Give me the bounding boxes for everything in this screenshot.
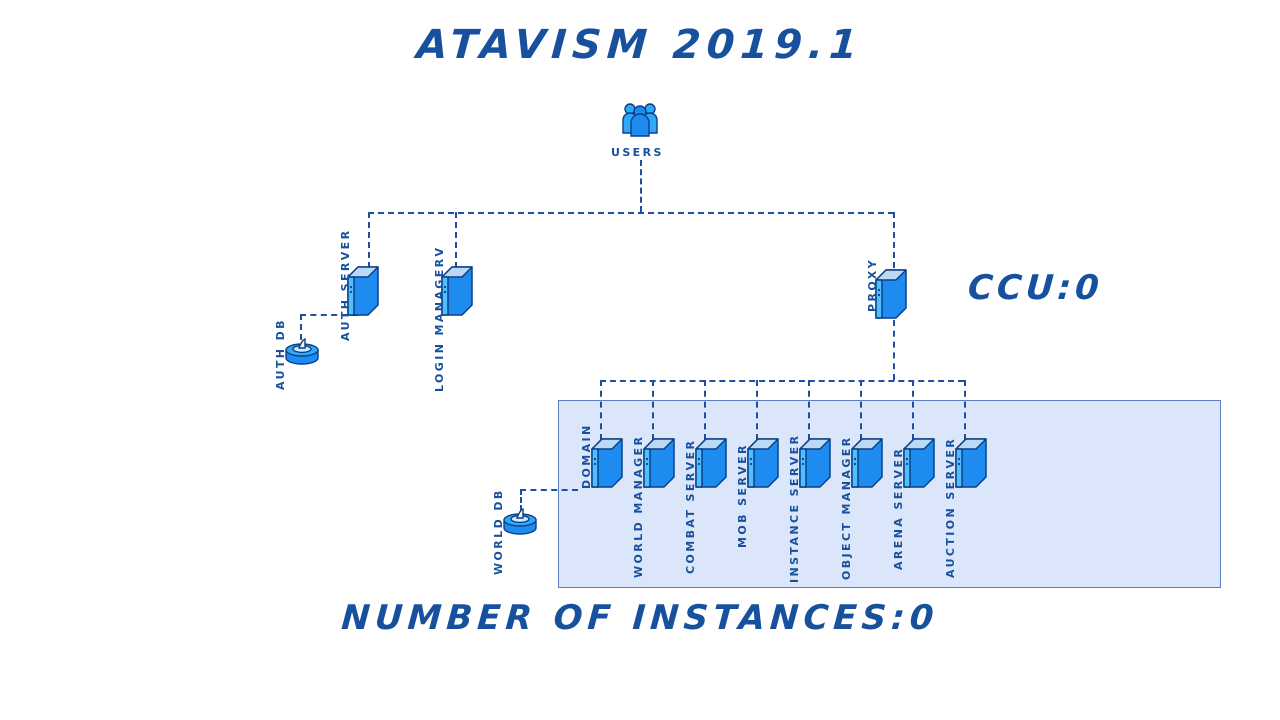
world-manager-label: WORLD MANAGER bbox=[632, 435, 645, 578]
auction-server-label: AUCTION SERVER bbox=[944, 437, 957, 578]
users-label: USERS bbox=[611, 146, 664, 159]
database-icon bbox=[283, 336, 321, 368]
connector-login-manager-drop bbox=[455, 212, 457, 268]
server-icon bbox=[798, 437, 832, 489]
connector-region-bus bbox=[600, 380, 964, 382]
instance-server-label: INSTANCE SERVER bbox=[788, 434, 801, 583]
server-icon bbox=[746, 437, 780, 489]
object-manager-label: OBJECT MANAGER bbox=[840, 435, 853, 580]
arena-server-label: ARENA SERVER bbox=[892, 447, 905, 570]
login-manager-label: LOGIN MANAGERV bbox=[433, 246, 446, 392]
instance-region-box bbox=[558, 400, 1221, 588]
domain-label: DOMAIN bbox=[580, 423, 593, 489]
ccu-counter: CCU:0 bbox=[967, 268, 1105, 308]
connector-region-drop-4 bbox=[756, 380, 758, 440]
connector-region-drop-1 bbox=[600, 380, 602, 440]
auth-server-label: AUTH SERVER bbox=[339, 229, 352, 341]
connector-top-bus bbox=[368, 212, 894, 214]
architecture-diagram: ATAVISM 2019.1 CCU:0 NUMBER OF INSTANCES… bbox=[0, 0, 1280, 720]
instance-counter: NUMBER OF INSTANCES:0 bbox=[0, 598, 1280, 638]
connector-worlddb-h bbox=[520, 489, 578, 491]
server-icon bbox=[874, 268, 908, 320]
page-title: ATAVISM 2019.1 bbox=[0, 22, 1280, 68]
connector-region-drop-2 bbox=[652, 380, 654, 440]
world-db-label: WORLD DB bbox=[492, 488, 505, 575]
connector-users-drop bbox=[640, 160, 642, 212]
database-icon bbox=[501, 506, 539, 538]
server-icon bbox=[642, 437, 676, 489]
server-icon bbox=[954, 437, 988, 489]
server-icon bbox=[590, 437, 624, 489]
server-icon bbox=[902, 437, 936, 489]
combat-server-label: COMBAT SERVER bbox=[684, 439, 697, 574]
connector-auth-server-drop bbox=[368, 212, 370, 268]
auth-db-label: AUTH DB bbox=[274, 318, 287, 390]
connector-region-drop-5 bbox=[808, 380, 810, 440]
connector-region-drop-3 bbox=[704, 380, 706, 440]
mob-server-label: MOB SERVER bbox=[736, 443, 749, 548]
connector-region-drop-8 bbox=[964, 380, 966, 440]
users-icon bbox=[618, 100, 662, 140]
server-icon bbox=[850, 437, 884, 489]
connector-proxy-drop bbox=[893, 212, 895, 268]
connector-region-drop-6 bbox=[860, 380, 862, 440]
proxy-label: PROXY bbox=[866, 258, 879, 312]
connector-region-drop-7 bbox=[912, 380, 914, 440]
server-icon bbox=[694, 437, 728, 489]
connector-proxy-down bbox=[893, 320, 895, 380]
